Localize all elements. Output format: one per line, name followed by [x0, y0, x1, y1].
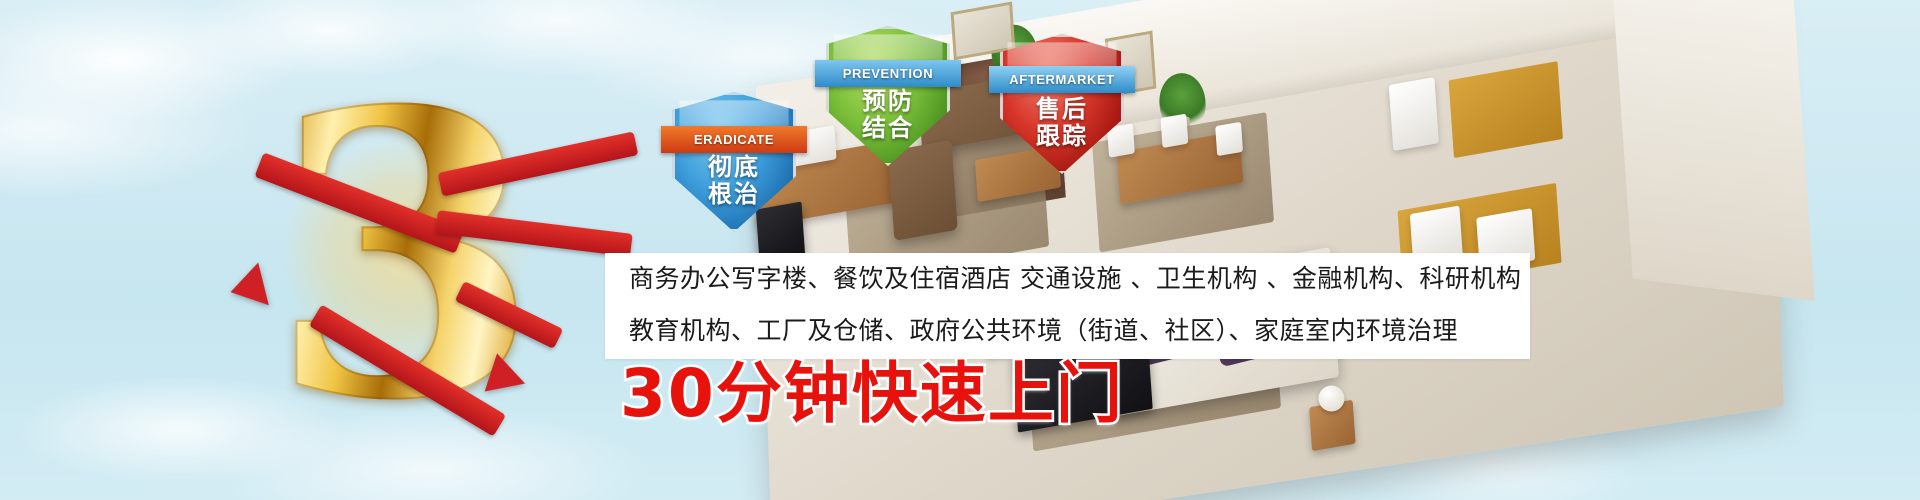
- badge-eradicate: ERADICATE 彻底 根治: [672, 92, 796, 232]
- dining-chair-b: [1160, 114, 1188, 148]
- service-scope-line-2: 教育机构、工厂及仓储、政府公共环境（街道、社区）、家庭室内环境治理: [605, 305, 1530, 357]
- badge-aftermarket: AFTERMARKET 售后 跟踪: [1000, 34, 1124, 174]
- headline-text: 30分钟快速上门: [620, 358, 1124, 430]
- promo-banner: 3 ERADICATE 彻底 根治 PREVENTION 预防 结合: [0, 0, 1920, 500]
- golden-three-graphic: 3: [240, 90, 570, 420]
- right-wall: [1610, 0, 1815, 301]
- badge-chinese-line2-eradicate: 根治: [672, 181, 796, 208]
- badge-chinese-eradicate: 彻底 根治: [672, 154, 796, 208]
- service-scope-line-1: 商务办公写字楼、餐饮及住宿酒店 交通设施 、卫生机构 、金融机构、科研机构: [605, 253, 1530, 305]
- badge-chinese-line1-eradicate: 彻底: [672, 154, 796, 181]
- badge-chinese-prevention: 预防 结合: [826, 88, 950, 142]
- range-hood: [1389, 77, 1439, 151]
- badge-chinese-line2-prevention: 结合: [826, 115, 950, 142]
- badge-english-label-aftermarket: AFTERMARKET: [1009, 72, 1115, 87]
- shield-ribbon-prevention: PREVENTION: [815, 60, 961, 87]
- badge-chinese-aftermarket: 售后 跟踪: [1000, 96, 1124, 150]
- shield-ribbon-eradicate: ERADICATE: [661, 126, 807, 153]
- badge-english-label-prevention: PREVENTION: [843, 66, 934, 81]
- badge-chinese-line1-prevention: 预防: [826, 88, 950, 115]
- shield-ribbon-aftermarket: AFTERMARKET: [989, 66, 1135, 93]
- service-scope-box: 商务办公写字楼、餐饮及住宿酒店 交通设施 、卫生机构 、金融机构、科研机构 教育…: [605, 253, 1530, 359]
- badge-chinese-line2-aftermarket: 跟踪: [1000, 123, 1124, 150]
- dining-chair-c: [1215, 122, 1243, 156]
- badge-prevention: PREVENTION 预防 结合: [826, 26, 950, 166]
- badge-chinese-line1-aftermarket: 售后: [1000, 96, 1124, 123]
- badge-english-label-eradicate: ERADICATE: [694, 132, 774, 147]
